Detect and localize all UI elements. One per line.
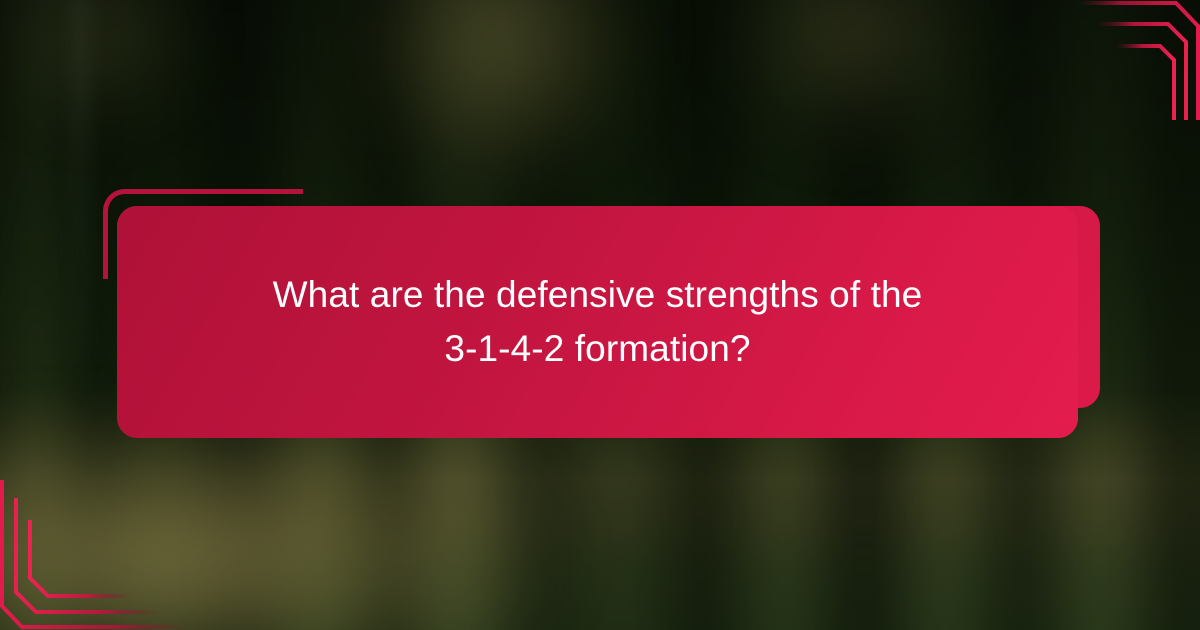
- question-headline: What are the defensive strengths of the …: [273, 268, 923, 376]
- poster-canvas: What are the defensive strengths of the …: [0, 0, 1200, 630]
- question-card: What are the defensive strengths of the …: [117, 206, 1078, 438]
